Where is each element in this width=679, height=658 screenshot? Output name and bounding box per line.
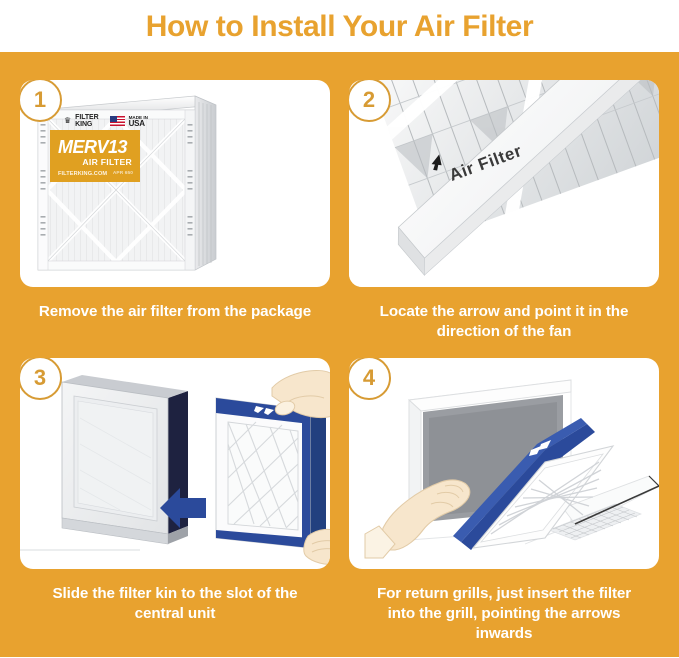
product-brand-row: ♛ FILTER KING MADE IN USA	[64, 114, 174, 128]
step-4-caption: For return grills, just insert the filte…	[349, 584, 659, 644]
product-rating-code: APR 650	[113, 172, 133, 177]
step-2-illustration	[349, 80, 659, 287]
product-website: FILTERKING.COM	[58, 172, 107, 178]
infographic-root: How to Install Your Air Filter	[0, 0, 679, 657]
page-title: How to Install Your Air Filter	[146, 12, 533, 42]
step-2-caption: Locate the arrow and point it in the dir…	[349, 302, 659, 342]
air-filter-subtitle: AIR FILTER	[82, 158, 132, 167]
step-1-caption: Remove the air filter from the package	[20, 302, 330, 322]
us-flag-icon	[110, 116, 125, 126]
brand-name: FILTER KING	[75, 114, 98, 129]
step-3-card: 3	[20, 358, 330, 569]
step-3-caption: Slide the filter kin to the slot of the …	[20, 584, 330, 624]
header: How to Install Your Air Filter	[0, 0, 679, 52]
step-3-illustration	[20, 358, 330, 569]
merv-rating: MERV13	[58, 138, 127, 156]
steps-container: ♛ FILTER KING MADE IN USA MERV13	[0, 52, 679, 657]
step-1: ♛ FILTER KING MADE IN USA MERV13	[20, 80, 330, 380]
step-4-illustration	[349, 358, 659, 569]
step-1-card: ♛ FILTER KING MADE IN USA MERV13	[20, 80, 330, 287]
product-label-gold: MERV13 AIR FILTER FILTERKING.COM APR 650	[50, 130, 140, 182]
step-1-illustration	[20, 80, 330, 287]
step-4-card: 4	[349, 358, 659, 569]
step-2: Air Filter 2 Locate the arrow and point …	[349, 80, 659, 380]
step-3: 3 Slide the filter kin to the slot of th…	[20, 358, 330, 658]
filter-king-crown-icon: ♛	[64, 117, 71, 125]
step-4: 4 For return grills, just insert the fil…	[349, 358, 659, 658]
made-in-usa-text: MADE IN USA	[129, 115, 148, 127]
step-2-card: Air Filter 2	[349, 80, 659, 287]
